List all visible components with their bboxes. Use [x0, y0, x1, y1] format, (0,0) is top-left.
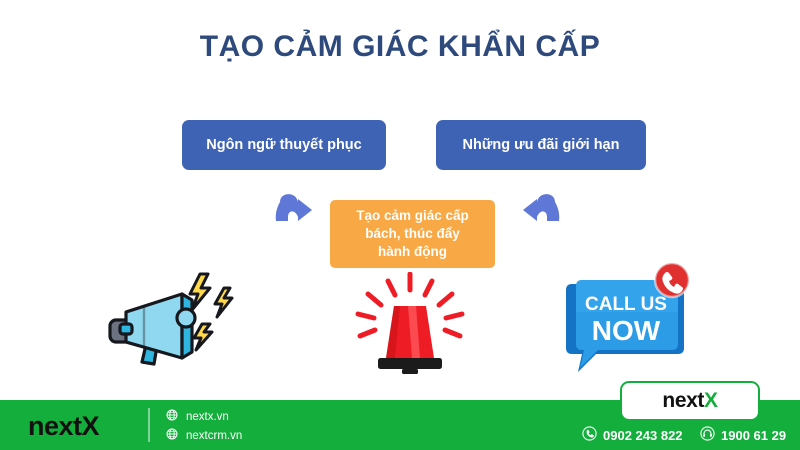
siren-alarm-icon — [350, 272, 470, 374]
curved-arrow-right-icon — [272, 190, 318, 230]
concept-box-right: Những ưu đãi giới hạn — [436, 120, 646, 170]
nextx-badge-text-b: X — [704, 389, 718, 413]
phone-circle-icon — [582, 426, 597, 444]
concept-box-right-label: Những ưu đãi giới hạn — [463, 137, 620, 153]
call-us-now-bubble: CALL US NOW — [556, 262, 696, 374]
globe-icon — [166, 428, 178, 443]
footer-site-label: nextcrm.vn — [186, 430, 242, 442]
nextx-badge: nextX — [620, 381, 760, 421]
outcome-box-line-3: hành động — [356, 243, 469, 261]
footer-phone-hotline[interactable]: 1900 61 29 — [700, 426, 786, 444]
slide-canvas: TẠO CẢM GIÁC KHẨN CẤP Ngôn ngữ thuyết ph… — [0, 0, 800, 450]
outcome-box-line-1: Tạo cảm giác cấp — [356, 207, 469, 225]
footer-divider — [148, 408, 150, 442]
outcome-box-line-2: bách, thúc đẩy — [356, 225, 469, 243]
megaphone-icon — [96, 262, 236, 372]
footer-phone-primary[interactable]: 0902 243 822 — [582, 426, 683, 444]
nextx-badge-text-a: next — [662, 389, 704, 413]
footer-site-nextcrm[interactable]: nextcrm.vn — [166, 428, 242, 443]
page-title: TẠO CẢM GIÁC KHẨN CẤP — [0, 30, 800, 64]
concept-box-left-label: Ngôn ngữ thuyết phục — [206, 137, 361, 153]
curved-arrow-left-icon — [517, 190, 563, 230]
footer-phone-label: 1900 61 29 — [721, 428, 786, 443]
callus-line-1: CALL US — [585, 294, 667, 315]
concept-box-left: Ngôn ngữ thuyết phục — [182, 120, 386, 170]
footer-phone-label: 0902 243 822 — [603, 428, 683, 443]
footer-site-nextx[interactable]: nextx.vn — [166, 409, 229, 424]
footer-logo: nextX — [28, 411, 99, 442]
callus-line-2: NOW — [592, 315, 661, 346]
outcome-box-center: Tạo cảm giác cấp bách, thúc đẩy hành độn… — [330, 200, 495, 268]
globe-icon — [166, 409, 178, 424]
footer-site-label: nextx.vn — [186, 411, 229, 423]
headset-circle-icon — [700, 426, 715, 444]
